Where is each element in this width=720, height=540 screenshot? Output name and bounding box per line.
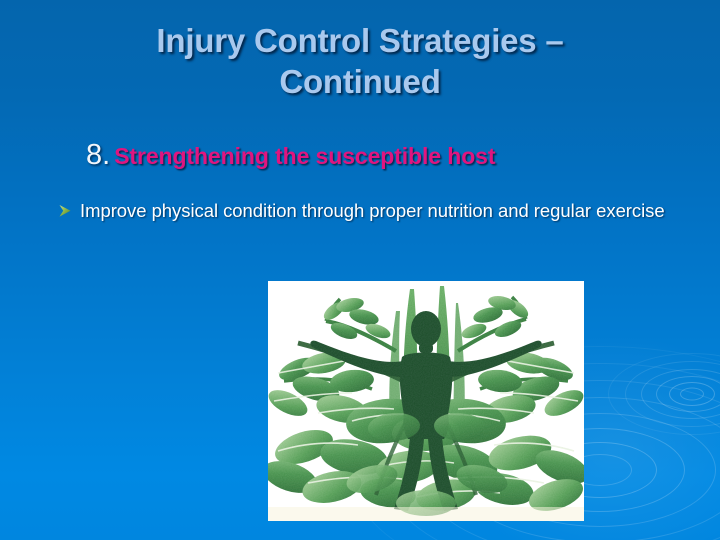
slide-title-line-2: Continued bbox=[40, 62, 680, 103]
picture-green-human-silhouette-with-leaves bbox=[268, 281, 584, 521]
slide-title-line-1: Injury Control Strategies – bbox=[40, 21, 680, 62]
ripple-ring bbox=[680, 388, 704, 401]
bullet-item: Improve physical condition through prope… bbox=[58, 199, 670, 224]
ripple-ring bbox=[656, 376, 720, 412]
section-heading-text: Strengthening the susceptible host bbox=[114, 143, 495, 169]
slide-canvas: Injury Control Strategies – Continued 8.… bbox=[0, 0, 720, 540]
section-number: 8. bbox=[86, 139, 110, 171]
ripple-ring bbox=[669, 382, 715, 406]
ripple-ring bbox=[608, 353, 720, 435]
slide-title: Injury Control Strategies – Continued bbox=[40, 21, 680, 102]
section-heading: 8.Strengthening the susceptible host bbox=[86, 139, 700, 172]
arrowhead-bullet-icon bbox=[58, 199, 80, 222]
ripple-ring bbox=[625, 361, 720, 427]
ripple-ring bbox=[641, 369, 720, 419]
bullet-text: Improve physical condition through prope… bbox=[80, 199, 670, 224]
